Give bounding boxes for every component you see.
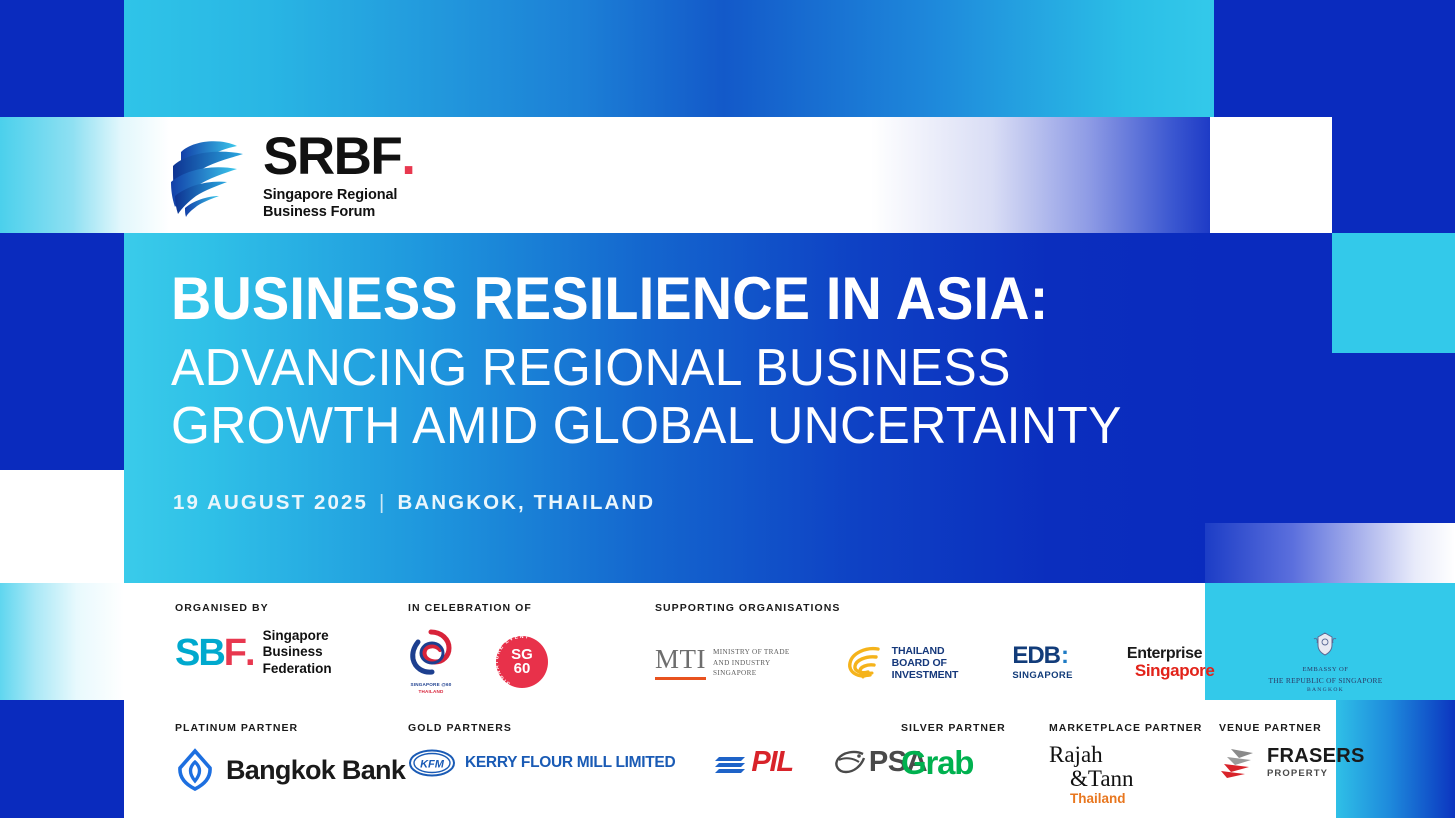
sponsor-label-in-celebration-of: IN CELEBRATION OF bbox=[408, 602, 548, 614]
rajah-and-tann-logo[interactable]: Rajah &Tann Thailand bbox=[1049, 743, 1134, 806]
sg60-ring-text: SIGNATURE EVENT bbox=[495, 635, 530, 686]
singapore-thailand-60-icon bbox=[408, 628, 454, 676]
sponsor-group-gold-partners: GOLD PARTNERS KFM KERRY FLOUR MILL LIMIT… bbox=[408, 722, 927, 779]
svg-text:SIGNATURE EVENT: SIGNATURE EVENT bbox=[495, 635, 530, 686]
mti-letters: MTI bbox=[655, 646, 706, 673]
pil-logo[interactable]: PIL bbox=[715, 746, 793, 779]
edb-bottom-text: SINGAPORE bbox=[1012, 670, 1073, 681]
bangkok-bank-wordmark: Bangkok Bank bbox=[226, 755, 405, 786]
st60-caption-1: SINGAPORE bbox=[410, 682, 439, 687]
sbf-words-line3: Federation bbox=[263, 661, 332, 677]
bg-block-hero-left-white bbox=[0, 470, 124, 583]
kfm-mark-text: KFM bbox=[420, 758, 445, 770]
enterprise-singapore-logo[interactable]: Enterprise Singapore bbox=[1127, 646, 1215, 680]
st60-caption-2: THAILAND bbox=[418, 689, 443, 694]
srbf-globe-icon bbox=[165, 134, 251, 218]
pil-wordmark: PIL bbox=[751, 746, 793, 779]
sponsor-label-silver-partner: SILVER PARTNER bbox=[901, 722, 1006, 734]
sponsor-group-supporting-organisations: SUPPORTING ORGANISATIONS MTI MINISTRY OF… bbox=[655, 602, 1383, 695]
hero-title-line2: ADVANCING REGIONAL BUSINESS bbox=[171, 339, 1141, 397]
frasers-line-1: FRASERS bbox=[1267, 746, 1365, 766]
sponsor-group-organised-by: ORGANISED BY SBF. Singapore Business Fed… bbox=[175, 602, 332, 677]
frasers-property-logo[interactable]: FRASERS PROPERTY bbox=[1219, 746, 1365, 779]
boi-line-3: INVESTMENT bbox=[892, 669, 959, 681]
bg-block-top-left bbox=[0, 0, 124, 117]
sbf-mark-sb: SB bbox=[175, 634, 224, 672]
sbf-logo[interactable]: SBF. Singapore Business Federation bbox=[175, 628, 332, 677]
mti-line-3: SINGAPORE bbox=[713, 668, 790, 679]
bg-band-top-gradient bbox=[124, 0, 1214, 117]
edb-singapore-logo[interactable]: EDB: SINGAPORE bbox=[1012, 644, 1073, 681]
mti-line-1: MINISTRY OF TRADE bbox=[713, 647, 790, 658]
event-banner: SRBF. Singapore Regional Business Forum … bbox=[0, 0, 1455, 818]
sponsor-group-marketplace-partner: MARKETPLACE PARTNER Rajah &Tann Thailand bbox=[1049, 722, 1202, 806]
grab-logo[interactable]: Grab bbox=[901, 744, 973, 782]
rajah-line-1: Rajah bbox=[1049, 743, 1134, 766]
hero-date-location: 19 AUGUST 2025 | BANGKOK, THAILAND bbox=[173, 491, 655, 515]
sponsor-group-silver-partner: SILVER PARTNER Grab bbox=[901, 722, 1006, 782]
st60-caption-3: @60 bbox=[441, 682, 451, 687]
sg60-ring-icon: SIGNATURE EVENT bbox=[495, 635, 549, 689]
event-location: BANGKOK, THAILAND bbox=[397, 491, 655, 515]
sponsor-label-organised-by: ORGANISED BY bbox=[175, 602, 332, 614]
kerry-flour-mill-logo[interactable]: KFM KERRY FLOUR MILL LIMITED bbox=[408, 748, 675, 778]
sbf-words-line2: Business bbox=[263, 644, 332, 660]
psa-bird-icon bbox=[833, 748, 867, 778]
bg-block-footer-left-blue bbox=[0, 700, 124, 818]
srbf-word-text: SRBF bbox=[263, 133, 401, 182]
frasers-line-2: PROPERTY bbox=[1267, 768, 1365, 779]
sbf-mark-dot: . bbox=[245, 634, 254, 672]
bg-block-hero-left bbox=[0, 233, 124, 470]
boi-swirl-icon bbox=[844, 643, 886, 683]
sponsor-group-venue-partner: VENUE PARTNER FRASERS PROPERTY bbox=[1219, 722, 1365, 779]
sponsor-label-platinum-partner: PLATINUM PARTNER bbox=[175, 722, 405, 734]
event-date: 19 AUGUST 2025 bbox=[173, 491, 368, 515]
bg-block-hero-cyan bbox=[1332, 233, 1455, 353]
sponsor-label-supporting-organisations: SUPPORTING ORGANISATIONS bbox=[655, 602, 1383, 614]
embassy-line-2: THE REPUBLIC OF SINGAPORE bbox=[1268, 675, 1382, 686]
boi-line-1: THAILAND bbox=[892, 645, 959, 657]
esg-line-2: Singapore bbox=[1135, 662, 1215, 679]
hero-title-line3: GROWTH AMID GLOBAL UNCERTAINTY bbox=[171, 397, 1141, 455]
edb-colon: : bbox=[1061, 644, 1068, 668]
hero-title: BUSINESS RESILIENCE IN ASIA: ADVANCING R… bbox=[171, 268, 1181, 456]
srbf-dot: . bbox=[401, 133, 414, 182]
edb-top-text: EDB bbox=[1012, 644, 1060, 668]
bangkok-bank-leaf-icon bbox=[175, 748, 215, 792]
embassy-line-1: EMBASSY OF bbox=[1268, 665, 1382, 675]
rajah-line-2: &Tann bbox=[1070, 767, 1134, 790]
singapore-state-crest-icon bbox=[1310, 631, 1340, 657]
srbf-wordmark: SRBF. Singapore Regional Business Forum bbox=[263, 131, 415, 220]
hero-title-line1: BUSINESS RESILIENCE IN ASIA: bbox=[171, 268, 1110, 329]
bg-block-top-right bbox=[1214, 0, 1455, 117]
sponsor-label-marketplace-partner: MARKETPLACE PARTNER bbox=[1049, 722, 1202, 734]
bg-block-sponsor-left-gradient bbox=[0, 583, 124, 700]
pil-waves-icon bbox=[715, 749, 749, 777]
mti-logo[interactable]: MTI MINISTRY OF TRADE AND INDUSTRY SINGA… bbox=[655, 646, 790, 681]
sg60-signature-event-logo[interactable]: SG 60 SIGNATURE EVENT bbox=[496, 636, 548, 688]
boi-line-2: BOARD OF bbox=[892, 657, 959, 669]
srbf-sub-line1: Singapore Regional bbox=[263, 187, 415, 204]
srbf-sub-line2: Business Forum bbox=[263, 204, 415, 221]
kfm-wordmark: KERRY FLOUR MILL LIMITED bbox=[465, 754, 675, 772]
singapore-thailand-60-logo[interactable]: SINGAPORE @60 THAILAND bbox=[408, 628, 454, 695]
mti-line-2: AND INDUSTRY bbox=[713, 658, 790, 669]
bg-block-logo-far-blue bbox=[1332, 117, 1455, 233]
srbf-logo[interactable]: SRBF. Singapore Regional Business Forum bbox=[165, 132, 435, 220]
bangkok-bank-logo[interactable]: Bangkok Bank bbox=[175, 748, 405, 792]
embassy-of-singapore-bangkok-logo[interactable]: EMBASSY OF THE REPUBLIC OF SINGAPORE BAN… bbox=[1268, 631, 1382, 695]
meta-separator: | bbox=[379, 491, 386, 515]
rajah-line-3: Thailand bbox=[1070, 792, 1134, 806]
bg-band-sponsor-top-gradient bbox=[1205, 523, 1455, 583]
mti-underline-bar bbox=[655, 677, 706, 681]
bg-block-logo-right-white bbox=[1210, 117, 1332, 233]
sponsor-group-in-celebration-of: IN CELEBRATION OF SINGAPORE @60 THAILAND bbox=[408, 602, 548, 695]
esg-line-1: Enterprise bbox=[1127, 646, 1215, 662]
sponsor-label-gold-partners: GOLD PARTNERS bbox=[408, 722, 927, 734]
sponsor-group-platinum-partner: PLATINUM PARTNER Bangkok Bank bbox=[175, 722, 405, 792]
frasers-chevrons-icon bbox=[1219, 747, 1259, 779]
sbf-words-line1: Singapore bbox=[263, 628, 332, 644]
kfm-oval-icon: KFM bbox=[408, 748, 456, 778]
thailand-board-of-investment-logo[interactable]: THAILAND BOARD OF INVESTMENT bbox=[844, 643, 959, 683]
sponsor-label-venue-partner: VENUE PARTNER bbox=[1219, 722, 1365, 734]
embassy-line-3: BANGKOK bbox=[1268, 686, 1382, 695]
sbf-mark-f: F bbox=[224, 634, 245, 672]
